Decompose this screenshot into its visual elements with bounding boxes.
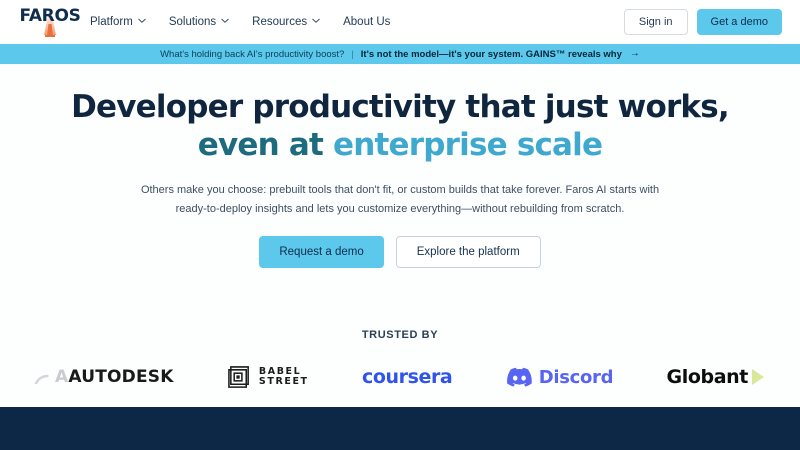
trusted-by-logos: AAUTODESK BABEL: [0, 356, 800, 398]
page-root: FAROS Platform Solutions Resources: [0, 0, 800, 450]
nav-item-label: Resources: [252, 16, 307, 28]
nav-item-solutions[interactable]: Solutions: [169, 16, 252, 28]
headline-line-2: even at enterprise scale: [0, 126, 800, 164]
autodesk-swoosh-icon: [34, 372, 50, 383]
banner-answer-link[interactable]: It's not the model—it's your system. GAI…: [361, 49, 622, 60]
babel-street-square-icon: [227, 365, 252, 390]
header-actions: Sign in Get a demo: [624, 0, 782, 44]
trusted-by-label: TRUSTED BY: [0, 329, 800, 341]
babel-street-wordmark: BABEL STREET: [259, 367, 309, 387]
nav-item-about-us[interactable]: About Us: [343, 16, 414, 28]
nav-item-resources[interactable]: Resources: [252, 16, 343, 28]
babel-street-line-2: STREET: [259, 377, 309, 387]
site-header: FAROS Platform Solutions Resources: [0, 0, 800, 44]
nav-item-label: Platform: [90, 16, 133, 28]
hero-subtext-line-2: ready-to-deploy insights and lets you cu…: [0, 200, 800, 219]
autodesk-wordmark-text: AUTODESK: [68, 367, 173, 387]
discord-mark-icon: [506, 367, 532, 387]
nav-item-platform[interactable]: Platform: [90, 16, 169, 28]
logo-discord: Discord: [506, 356, 614, 398]
explore-the-platform-button[interactable]: Explore the platform: [396, 236, 541, 268]
logo-babel-street: BABEL STREET: [227, 356, 309, 398]
hero-subtext-line-1: Others make you choose: prebuilt tools t…: [0, 181, 800, 200]
nav-item-label: About Us: [343, 16, 390, 28]
arrow-right-icon: →: [630, 49, 640, 59]
hero-subtext: Others make you choose: prebuilt tools t…: [0, 181, 800, 219]
globant-arrow-icon: [750, 368, 766, 386]
banner-question: What's holding back AI's productivity bo…: [160, 49, 344, 60]
chevron-down-icon: [312, 18, 319, 25]
autodesk-wordmark: AAUTODESK: [55, 367, 174, 387]
get-a-demo-button[interactable]: Get a demo: [697, 9, 782, 35]
logo-coursera: coursera: [362, 356, 452, 398]
hero-cta-group: Request a demo Explore the platform: [0, 236, 800, 268]
headline-line-2-part-2: enterprise scale: [333, 127, 602, 163]
brand-logo[interactable]: FAROS: [24, 7, 76, 37]
lighthouse-base-icon: [45, 35, 55, 37]
page-title: Developer productivity that just works, …: [0, 88, 800, 164]
main-nav: Platform Solutions Resources About Us: [90, 0, 414, 44]
request-a-demo-button[interactable]: Request a demo: [259, 236, 383, 268]
logo-autodesk: AAUTODESK: [34, 356, 174, 398]
nav-item-label: Solutions: [169, 16, 216, 28]
hero-section: Developer productivity that just works, …: [0, 64, 800, 407]
chevron-down-icon: [138, 18, 145, 25]
logo-globant: Globant: [667, 356, 766, 398]
announcement-banner[interactable]: What's holding back AI's productivity bo…: [0, 44, 800, 64]
footer-band: [0, 407, 800, 450]
coursera-wordmark: coursera: [362, 366, 452, 388]
headline-line-1: Developer productivity that just works,: [71, 89, 729, 125]
headline-line-2-part-1: even at: [198, 127, 333, 163]
sign-in-button[interactable]: Sign in: [624, 9, 688, 35]
chevron-down-icon: [221, 18, 228, 25]
banner-separator: |: [351, 49, 353, 60]
brand-logo-text: FAROS: [19, 7, 80, 26]
discord-wordmark: Discord: [539, 367, 614, 388]
globant-wordmark: Globant: [667, 366, 748, 388]
